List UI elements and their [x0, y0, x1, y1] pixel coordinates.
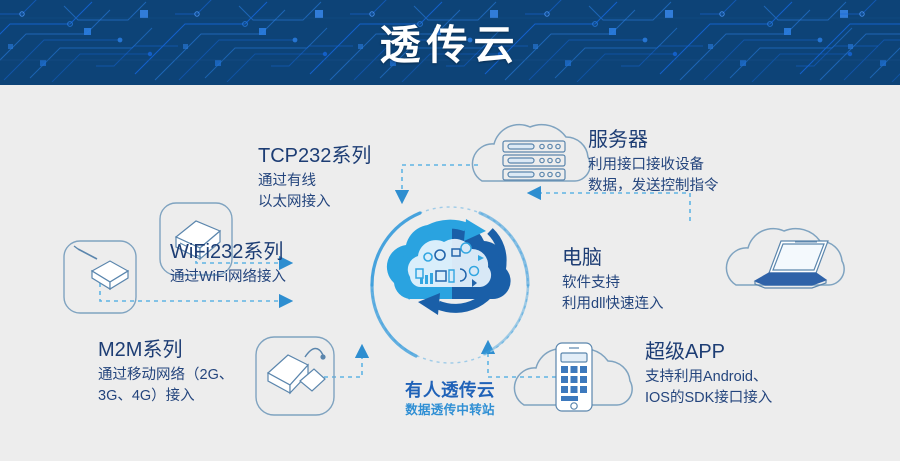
connector-m2m — [324, 347, 362, 377]
node-app: 超级APP 支持利用Android、 IOS的SDK接口接入 — [645, 340, 772, 409]
cellular-modem-icon — [256, 337, 334, 415]
node-m2m-heading: M2M系列 — [98, 338, 233, 362]
header-banner: 透传云 — [0, 0, 900, 82]
page-title: 透传云 — [0, 0, 900, 82]
node-m2m-line-1: 通过移动网络（2G、 — [98, 365, 233, 386]
node-server-line-2: 数据，发送控制指令 — [588, 176, 719, 197]
node-tcp232-line-1: 通过有线 — [258, 171, 371, 192]
node-tcp232-line-2: 以太网接入 — [258, 192, 371, 213]
node-pc-line-2: 利用dll快速连入 — [562, 294, 664, 315]
smartphone-cloud-icon — [514, 343, 632, 411]
infographic-page: 透传云 — [0, 0, 900, 461]
node-server-heading: 服务器 — [588, 128, 719, 152]
server-cloud-icon — [472, 125, 590, 181]
node-pc: 电脑 软件支持 利用dll快速连入 — [562, 246, 664, 315]
wifi-device-icon — [64, 241, 136, 313]
connector-server — [402, 165, 478, 201]
node-app-line-2: IOS的SDK接口接入 — [645, 388, 772, 409]
node-m2m-line-2: 3G、4G）接入 — [98, 386, 233, 407]
node-app-line-1: 支持利用Android、 — [645, 367, 772, 388]
node-pc-line-1: 软件支持 — [562, 273, 664, 294]
node-m2m: M2M系列 通过移动网络（2G、 3G、4G）接入 — [98, 338, 233, 407]
node-server-line-1: 利用接口接收设备 — [588, 155, 719, 176]
node-wifi232-line-1: 通过WiFi网络接入 — [170, 267, 286, 288]
connector-pc — [530, 193, 690, 221]
node-app-heading: 超级APP — [645, 340, 772, 364]
hub-cloud-logo — [387, 219, 511, 315]
node-tcp232-heading: TCP232系列 — [258, 144, 371, 168]
node-wifi232: WiFi232系列 通过WiFi网络接入 — [170, 240, 286, 288]
laptop-cloud-icon — [726, 229, 844, 288]
node-pc-heading: 电脑 — [562, 246, 664, 270]
node-tcp232: TCP232系列 通过有线 以太网接入 — [258, 144, 371, 213]
node-wifi232-heading: WiFi232系列 — [170, 240, 286, 264]
node-server: 服务器 利用接口接收设备 数据，发送控制指令 — [588, 128, 719, 197]
